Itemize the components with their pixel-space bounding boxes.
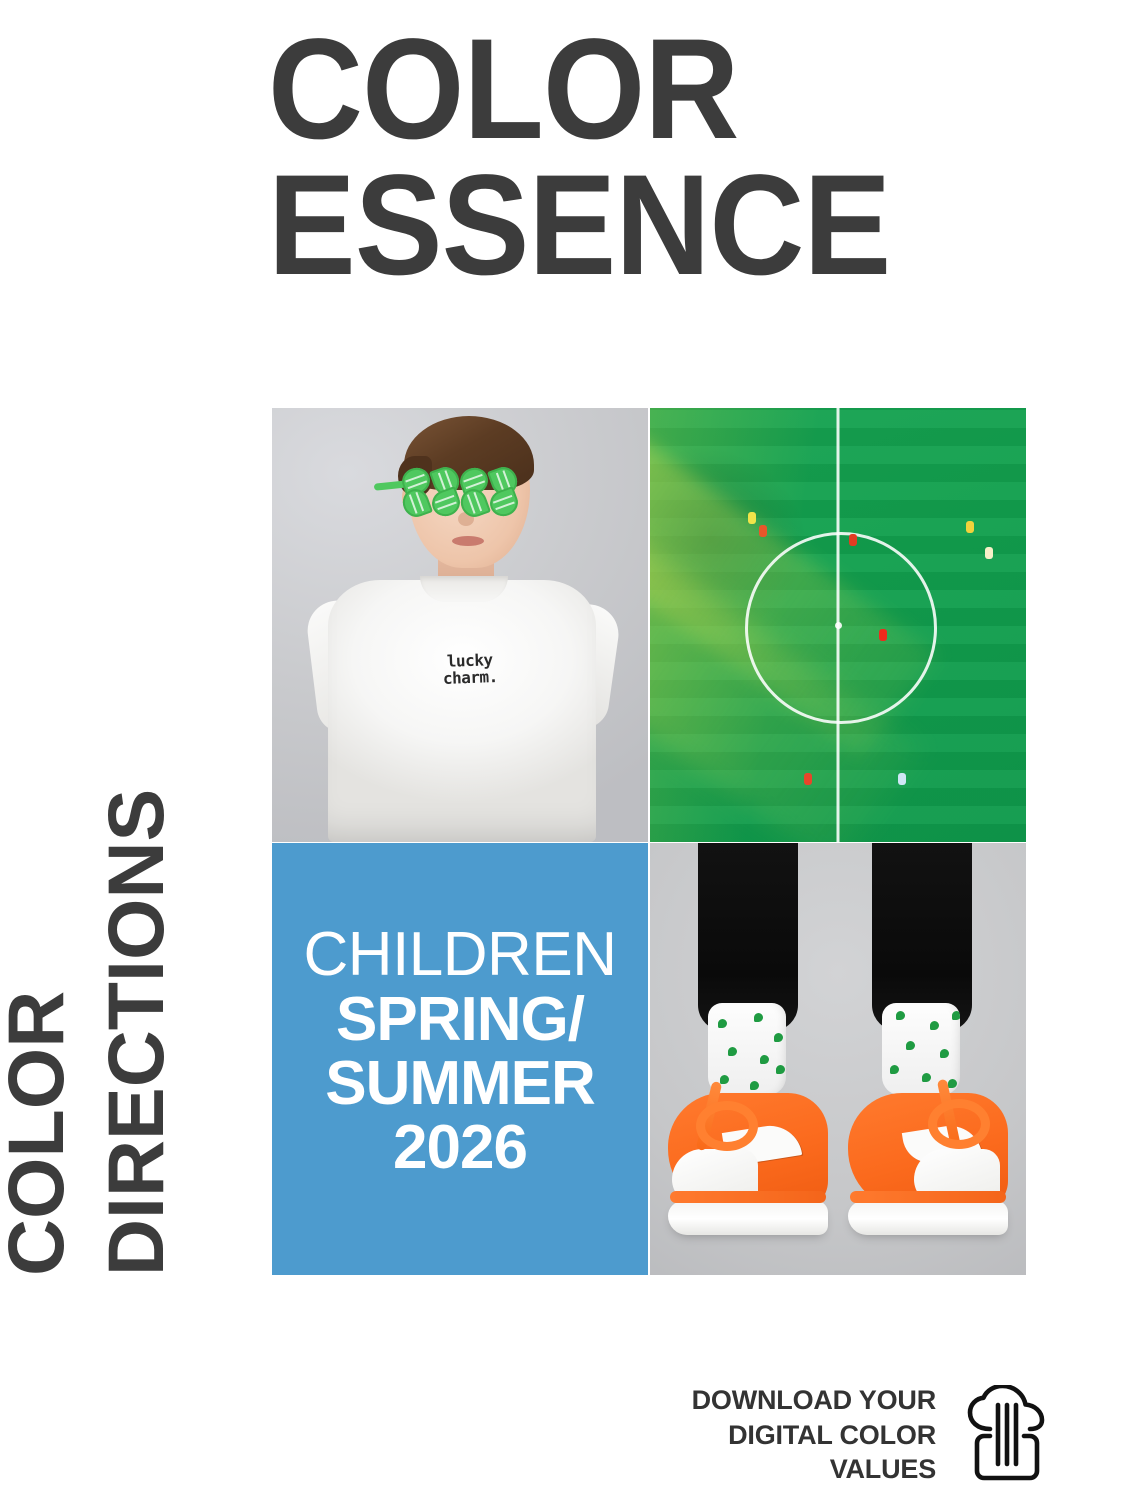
white-tshirt [328, 580, 596, 842]
photo-sneakers [650, 843, 1026, 1275]
tshirt-collar [420, 576, 508, 602]
shamrock-motif-icon [952, 1011, 960, 1020]
download-cta-text: DOWNLOAD YOUR DIGITAL COLOR VALUES [630, 1383, 936, 1487]
shamrock-motif-icon [774, 1033, 783, 1042]
shamrock-motif-icon [776, 1065, 785, 1074]
tshirt-text-line2: charm. [424, 668, 517, 688]
shamrock-lens-left [400, 466, 462, 520]
pitch-player [879, 629, 887, 641]
masthead-line-essence: ESSENCE [268, 158, 912, 294]
season-line-2: SUMMER [325, 1052, 595, 1116]
vertical-titles: DIRECTIONS COLOR [0, 0, 272, 1500]
download-cta[interactable]: DOWNLOAD YOUR DIGITAL COLOR VALUES [630, 1382, 1050, 1488]
shamrock-lens-right [458, 466, 520, 520]
shamrock-sunglasses-icon [392, 466, 532, 520]
pitch-player [759, 525, 767, 537]
season-title-block: CHILDREN SPRING/ SUMMER 2026 [272, 843, 648, 1275]
shamrock-motif-icon [890, 1065, 899, 1074]
audience-label: CHILDREN [304, 923, 617, 987]
pitch-center-spot [835, 622, 842, 629]
page-title: COLOR ESSENCE [268, 22, 968, 294]
shamrock-motif-icon [906, 1041, 915, 1050]
season-line-1: SPRING/ [336, 988, 584, 1052]
cloud-download-icon[interactable] [964, 1385, 1050, 1485]
shamrock-motif-icon [728, 1047, 737, 1056]
vertical-title-color: COLOR [0, 991, 82, 1276]
shamrock-motif-icon [754, 1013, 763, 1022]
pitch-player [849, 534, 857, 546]
sneaker-left [668, 1075, 828, 1245]
download-cta-line1: DOWNLOAD YOUR [630, 1383, 936, 1418]
shamrock-motif-icon [760, 1055, 769, 1064]
shamrock-motif-icon [930, 1021, 939, 1030]
shamrock-motif-icon [718, 1019, 727, 1028]
pitch-player [748, 512, 756, 524]
pitch-player [966, 521, 974, 533]
mouth [452, 536, 484, 546]
masthead-line-color: COLOR [268, 22, 912, 158]
pitch-player [985, 547, 993, 559]
cover-page: COLOR ESSENCE DIRECTIONS COLOR [0, 0, 1125, 1500]
pitch-player [898, 773, 906, 785]
vertical-title-directions: DIRECTIONS [90, 789, 182, 1276]
tshirt-graphic-text: lucky charm. [423, 650, 516, 688]
photo-boy: lucky charm. [272, 408, 648, 842]
sneaker-right [848, 1075, 1008, 1245]
shamrock-motif-icon [940, 1049, 949, 1058]
shamrock-motif-icon [896, 1011, 905, 1020]
pitch-center-circle [745, 532, 937, 724]
download-cta-line2: DIGITAL COLOR VALUES [630, 1418, 936, 1487]
pitch-player [804, 773, 812, 785]
season-year: 2026 [393, 1116, 527, 1180]
photo-football-pitch [650, 408, 1026, 842]
